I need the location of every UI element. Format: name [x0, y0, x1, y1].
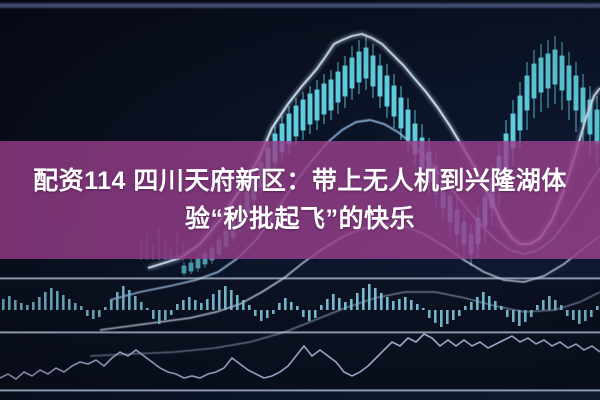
headline-line-2: 验“秒批起飞”的快乐 — [185, 200, 415, 238]
headline-band: 配资114 四川天府新区：带上无人机到兴隆湖体 验“秒批起飞”的快乐 — [0, 141, 600, 259]
stock-chart-banner: 配资114 四川天府新区：带上无人机到兴隆湖体 验“秒批起飞”的快乐 — [0, 0, 600, 400]
headline-line-1: 配资114 四川天府新区：带上无人机到兴隆湖体 — [33, 162, 567, 200]
